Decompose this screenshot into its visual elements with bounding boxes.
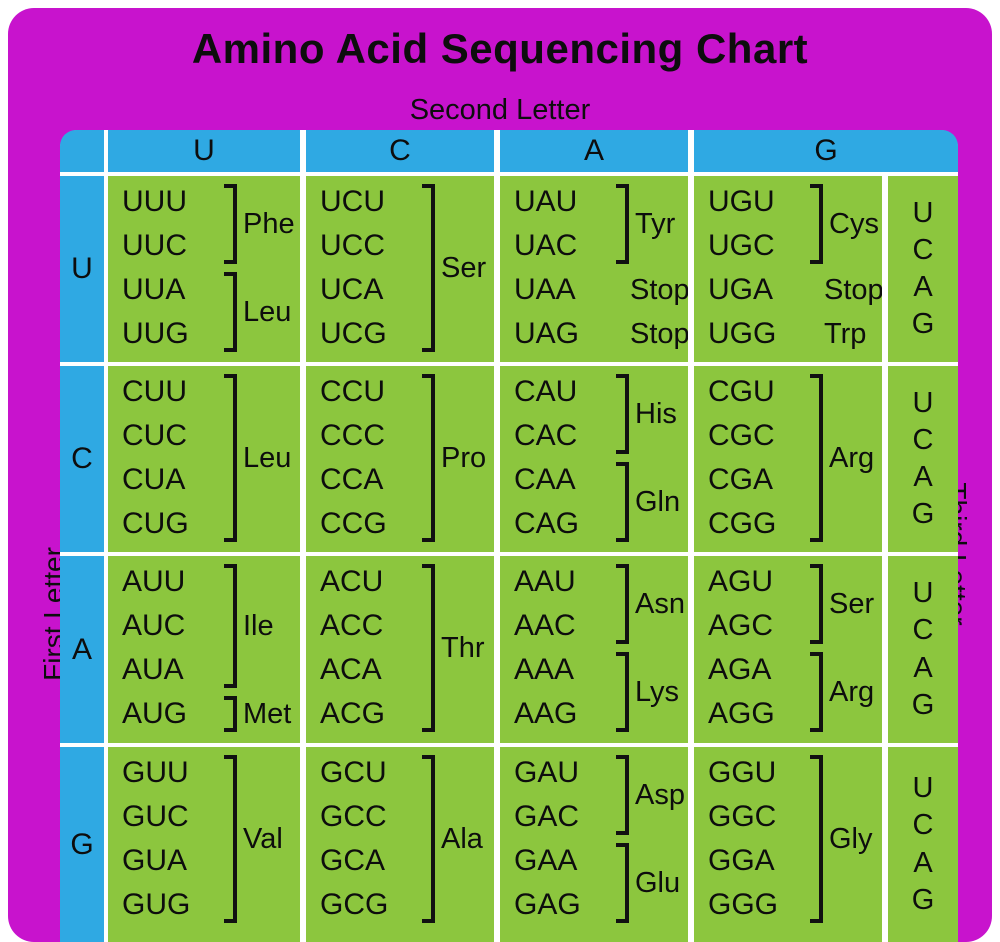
- third-letter-a: A: [913, 459, 932, 496]
- codon-cell-ag[interactable]: AGUAGCAGAAGGSerArg: [694, 556, 882, 743]
- codon-gug: GUG: [122, 883, 190, 927]
- amino-acid-label: Met: [243, 700, 291, 729]
- codon-list: CGUCGCCGACGG: [708, 370, 776, 546]
- amino-acid-label: Phe: [243, 210, 295, 239]
- amino-acid-group-ser: Ser: [422, 184, 486, 352]
- third-letter-cell: UCAG: [888, 747, 958, 942]
- codon-list: UAUUACUAAUAG: [514, 180, 579, 356]
- bracket-icon: [616, 374, 629, 454]
- third-letter-a: A: [913, 269, 932, 306]
- codon-guc: GUC: [122, 795, 190, 839]
- codon-aau: AAU: [514, 560, 577, 604]
- codon-gua: GUA: [122, 839, 190, 883]
- codon-acg: ACG: [320, 692, 385, 736]
- bracket-icon: [422, 184, 435, 352]
- codon-caa: CAA: [514, 458, 579, 502]
- amino-acid-label: Arg: [829, 678, 874, 707]
- third-letter-g: G: [912, 496, 935, 533]
- codon-ucg: UCG: [320, 312, 387, 356]
- amino-acid-label-stop: Stop: [630, 276, 688, 305]
- codon-uug: UUG: [122, 312, 189, 356]
- column-header-u[interactable]: U: [108, 130, 300, 172]
- codon-agc: AGC: [708, 604, 775, 648]
- amino-acid-group-leu: Leu: [224, 374, 291, 542]
- codon-ccc: CCC: [320, 414, 387, 458]
- codon-ucu: UCU: [320, 180, 387, 224]
- codon-aca: ACA: [320, 648, 385, 692]
- amino-acid-label: Arg: [829, 444, 874, 473]
- second-letter-axis-label: Second Letter: [8, 96, 992, 125]
- codon-cell-uc[interactable]: UCUUCCUCAUCGSer: [306, 176, 494, 362]
- codon-cell-ca[interactable]: CAUCACCAACAGHisGln: [500, 366, 688, 552]
- codon-acc: ACC: [320, 604, 385, 648]
- codon-cgg: CGG: [708, 502, 776, 546]
- codon-uaa: UAA: [514, 268, 579, 312]
- bracket-icon: [422, 755, 435, 923]
- row-header-u[interactable]: U: [60, 176, 104, 362]
- codon-list: GGUGGCGGAGGG: [708, 751, 778, 927]
- third-letter-u: U: [913, 195, 934, 232]
- codon-ugu: UGU: [708, 180, 776, 224]
- bracket-icon: [810, 652, 823, 732]
- amino-acid-group-lys: Lys: [616, 652, 679, 732]
- amino-acid-group-ala: Ala: [422, 755, 483, 923]
- codon-cga: CGA: [708, 458, 776, 502]
- amino-acid-label: Thr: [441, 634, 485, 663]
- codon-list: UCUUCCUCAUCG: [320, 180, 387, 356]
- codon-cell-cu[interactable]: CUUCUCCUACUGLeu: [108, 366, 300, 552]
- amino-acid-group-thr: Thr: [422, 564, 485, 732]
- codon-cuc: CUC: [122, 414, 189, 458]
- codon-list: GCUGCCGCAGCG: [320, 751, 388, 927]
- amino-acid-group-asn: Asn: [616, 564, 685, 644]
- column-header-a[interactable]: A: [500, 130, 688, 172]
- amino-acid-label: Cys: [829, 210, 879, 239]
- third-letter-g: G: [912, 882, 935, 919]
- amino-acid-group-asp: Asp: [616, 755, 685, 835]
- codon-cuu: CUU: [122, 370, 189, 414]
- third-letter-g: G: [912, 306, 935, 343]
- third-letter-u: U: [913, 385, 934, 422]
- row-header-a[interactable]: A: [60, 556, 104, 743]
- codon-ugc: UGC: [708, 224, 776, 268]
- codon-gga: GGA: [708, 839, 778, 883]
- codon-list: GAUGACGAAGAG: [514, 751, 581, 927]
- amino-acid-group-ser: Ser: [810, 564, 874, 644]
- codon-cell-ug[interactable]: UGUUGCUGAUGGCysStopTrp: [694, 176, 882, 362]
- amino-acid-label: Ala: [441, 825, 483, 854]
- bracket-icon: [224, 696, 237, 732]
- codon-gac: GAC: [514, 795, 581, 839]
- codon-cua: CUA: [122, 458, 189, 502]
- codon-cug: CUG: [122, 502, 189, 546]
- codon-cell-uu[interactable]: UUUUUCUUAUUGPheLeu: [108, 176, 300, 362]
- amino-acid-group-met: Met: [224, 696, 291, 732]
- codon-cell-aa[interactable]: AAUAACAAAAAGAsnLys: [500, 556, 688, 743]
- column-header-g[interactable]: G: [694, 130, 958, 172]
- third-letter-cell: UCAG: [888, 556, 958, 743]
- codon-agg: AGG: [708, 692, 775, 736]
- column-header-c[interactable]: C: [306, 130, 494, 172]
- bracket-icon: [224, 755, 237, 923]
- codon-cgu: CGU: [708, 370, 776, 414]
- codon-gaa: GAA: [514, 839, 581, 883]
- page-title: Amino Acid Sequencing Chart: [8, 28, 992, 70]
- amino-acid-label: Ser: [829, 590, 874, 619]
- codon-cell-ga[interactable]: GAUGACGAAGAGAspGlu: [500, 747, 688, 942]
- amino-acid-group-cys: Cys: [810, 184, 879, 264]
- amino-acid-group-gln: Gln: [616, 462, 680, 542]
- codon-uua: UUA: [122, 268, 189, 312]
- codon-cell-ac[interactable]: ACUACCACAACGThr: [306, 556, 494, 743]
- codon-cac: CAC: [514, 414, 579, 458]
- codon-gcu: GCU: [320, 751, 388, 795]
- amino-acid-label-trp: Trp: [824, 320, 866, 349]
- codon-aac: AAC: [514, 604, 577, 648]
- codon-list: ACUACCACAACG: [320, 560, 385, 736]
- codon-uuu: UUU: [122, 180, 189, 224]
- codon-gag: GAG: [514, 883, 581, 927]
- third-letter-cell: UCAG: [888, 366, 958, 552]
- bracket-icon: [616, 755, 629, 835]
- bracket-icon: [810, 374, 823, 542]
- amino-acid-group-arg: Arg: [810, 652, 874, 732]
- codon-gau: GAU: [514, 751, 581, 795]
- amino-acid-label: Glu: [635, 869, 680, 898]
- codon-list: GUUGUCGUAGUG: [122, 751, 190, 927]
- third-letter-cell: UCAG: [888, 176, 958, 362]
- codon-ucc: UCC: [320, 224, 387, 268]
- codon-gcc: GCC: [320, 795, 388, 839]
- codon-uac: UAC: [514, 224, 579, 268]
- third-letter-c: C: [913, 232, 934, 269]
- third-letter-a: A: [913, 845, 932, 882]
- codon-ggc: GGC: [708, 795, 778, 839]
- amino-acid-label: Val: [243, 825, 283, 854]
- bracket-icon: [616, 652, 629, 732]
- codon-cgc: CGC: [708, 414, 776, 458]
- codon-cell-gc[interactable]: GCUGCCGCAGCGAla: [306, 747, 494, 942]
- codon-agu: AGU: [708, 560, 775, 604]
- table-body: UUCAGUUUUUCUUAUUGPheLeuUCUUCCUCAUCGSerUA…: [60, 176, 958, 942]
- codon-acu: ACU: [320, 560, 385, 604]
- amino-acid-label-stop: Stop: [824, 276, 882, 305]
- codon-cag: CAG: [514, 502, 579, 546]
- amino-acid-label: Gly: [829, 825, 873, 854]
- bracket-icon: [224, 272, 237, 352]
- third-letter-c: C: [913, 612, 934, 649]
- codon-aga: AGA: [708, 648, 775, 692]
- amino-acid-chart-card: Amino Acid Sequencing Chart Second Lette…: [8, 8, 992, 942]
- bracket-icon: [616, 843, 629, 923]
- bracket-icon: [422, 374, 435, 542]
- amino-acid-label: His: [635, 400, 677, 429]
- amino-acid-label: Ser: [441, 254, 486, 283]
- amino-acid-group-gly: Gly: [810, 755, 873, 923]
- amino-acid-label: Pro: [441, 444, 486, 473]
- codon-auc: AUC: [122, 604, 187, 648]
- third-letter-u: U: [913, 575, 934, 612]
- amino-acid-group-arg: Arg: [810, 374, 874, 542]
- amino-acid-label: Lys: [635, 678, 679, 707]
- codon-uau: UAU: [514, 180, 579, 224]
- codon-aaa: AAA: [514, 648, 577, 692]
- codon-guu: GUU: [122, 751, 190, 795]
- amino-acid-label: Gln: [635, 488, 680, 517]
- row-header-c[interactable]: C: [60, 366, 104, 552]
- amino-acid-group-his: His: [616, 374, 677, 454]
- codon-cell-cc[interactable]: CCUCCCCCACCGPro: [306, 366, 494, 552]
- bracket-icon: [616, 564, 629, 644]
- bracket-icon: [616, 184, 629, 264]
- codon-auu: AUU: [122, 560, 187, 604]
- bracket-icon: [224, 184, 237, 264]
- row-header-g[interactable]: G: [60, 747, 104, 942]
- bracket-icon: [422, 564, 435, 732]
- third-letter-c: C: [913, 807, 934, 844]
- third-letter-g: G: [912, 687, 935, 724]
- codon-uag: UAG: [514, 312, 579, 356]
- amino-acid-label: Leu: [243, 444, 291, 473]
- bracket-icon: [810, 755, 823, 923]
- codon-list: CUUCUCCUACUG: [122, 370, 189, 546]
- codon-cau: CAU: [514, 370, 579, 414]
- codon-gca: GCA: [320, 839, 388, 883]
- codon-ugg: UGG: [708, 312, 776, 356]
- codon-aug: AUG: [122, 692, 187, 736]
- amino-acid-label: Tyr: [635, 210, 675, 239]
- bracket-icon: [224, 374, 237, 542]
- codon-cell-cg[interactable]: CGUCGCCGACGGArg: [694, 366, 882, 552]
- codon-ggg: GGG: [708, 883, 778, 927]
- codon-list: UUUUUCUUAUUG: [122, 180, 189, 356]
- codon-list: CAUCACCAACAG: [514, 370, 579, 546]
- amino-acid-group-ile: Ile: [224, 564, 274, 688]
- third-letter-a: A: [913, 650, 932, 687]
- amino-acid-group-val: Val: [224, 755, 283, 923]
- amino-acid-group-leu: Leu: [224, 272, 291, 352]
- codon-cell-au[interactable]: AUUAUCAUAAUGIleMet: [108, 556, 300, 743]
- bracket-icon: [810, 184, 823, 264]
- codon-cell-gu[interactable]: GUUGUCGUAGUGVal: [108, 747, 300, 942]
- codon-ccg: CCG: [320, 502, 387, 546]
- third-letter-u: U: [913, 770, 934, 807]
- table-header-row: UCAG: [60, 130, 958, 172]
- codon-cca: CCA: [320, 458, 387, 502]
- codon-list: AUUAUCAUAAUG: [122, 560, 187, 736]
- codon-list: AGUAGCAGAAGG: [708, 560, 775, 736]
- codon-table: UCAG UUCAGUUUUUCUUAUUGPheLeuUCUUCCUCAUCG…: [60, 130, 958, 942]
- codon-gcg: GCG: [320, 883, 388, 927]
- bracket-icon: [616, 462, 629, 542]
- amino-acid-label: Ile: [243, 612, 274, 641]
- amino-acid-label: Asn: [635, 590, 685, 619]
- amino-acid-label: Leu: [243, 298, 291, 327]
- codon-uuc: UUC: [122, 224, 189, 268]
- amino-acid-group-phe: Phe: [224, 184, 295, 264]
- amino-acid-label: Asp: [635, 781, 685, 810]
- codon-cell-ua[interactable]: UAUUACUAAUAGTyrStopStop: [500, 176, 688, 362]
- codon-aag: AAG: [514, 692, 577, 736]
- bracket-icon: [810, 564, 823, 644]
- amino-acid-group-glu: Glu: [616, 843, 680, 923]
- codon-list: AAUAACAAAAAG: [514, 560, 577, 736]
- amino-acid-group-pro: Pro: [422, 374, 486, 542]
- codon-aua: AUA: [122, 648, 187, 692]
- codon-ccu: CCU: [320, 370, 387, 414]
- codon-uca: UCA: [320, 268, 387, 312]
- third-letter-c: C: [913, 422, 934, 459]
- amino-acid-group-tyr: Tyr: [616, 184, 675, 264]
- codon-ggu: GGU: [708, 751, 778, 795]
- codon-list: CCUCCCCCACCG: [320, 370, 387, 546]
- codon-uga: UGA: [708, 268, 776, 312]
- table-corner-cell: [60, 130, 104, 172]
- bracket-icon: [224, 564, 237, 688]
- codon-list: UGUUGCUGAUGG: [708, 180, 776, 356]
- amino-acid-label-stop: Stop: [630, 320, 688, 349]
- codon-cell-gg[interactable]: GGUGGCGGAGGGGly: [694, 747, 882, 942]
